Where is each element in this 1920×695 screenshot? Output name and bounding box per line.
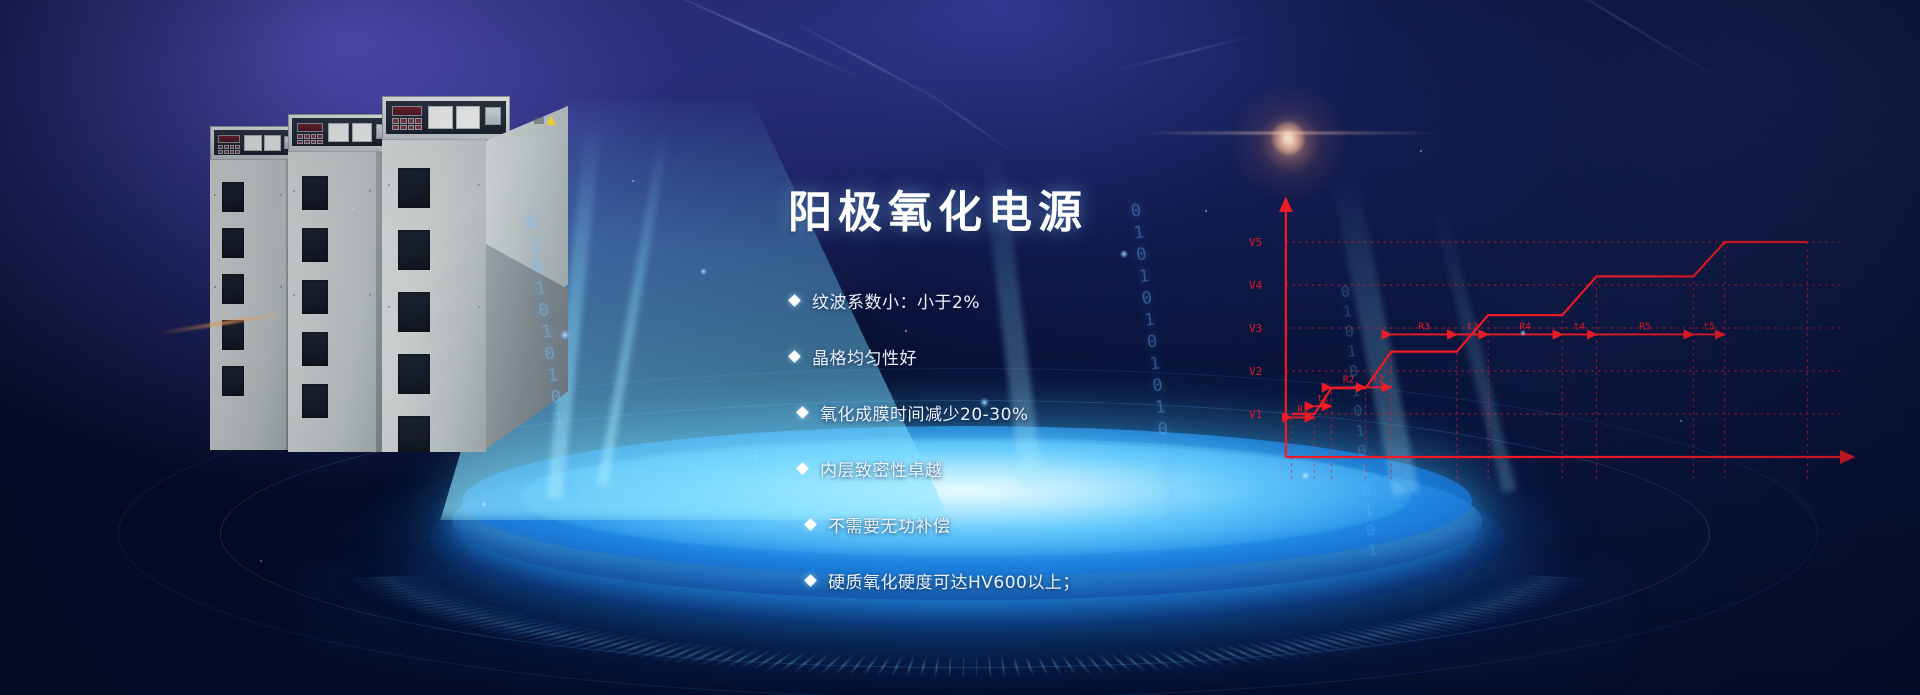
feature-label: 内层致密性卓越 (820, 456, 943, 481)
svg-text:t2: t2 (1373, 374, 1384, 385)
svg-text:t5: t5 (1703, 321, 1714, 332)
feature-label: 纹波系数小：小于2% (812, 288, 980, 313)
feature-item: 氧化成膜时间减少20-30% (798, 400, 1310, 424)
voltage-profile-chart: V1V2V3V4V5R1t1R2t2R3t3R4t4R5t5 (1245, 185, 1865, 485)
feature-label: 硬质氧化硬度可达HV600以上； (828, 568, 1080, 593)
feature-item: 硬质氧化硬度可达HV600以上； (806, 568, 1310, 592)
chart-svg: V1V2V3V4V5R1t1R2t2R3t3R4t4R5t5 (1245, 185, 1865, 485)
feature-label: 晶格均匀性好 (812, 344, 917, 369)
diamond-bullet-icon (804, 574, 817, 587)
feature-item: 内层致密性卓越 (798, 456, 1310, 480)
light-streak (1112, 34, 1258, 72)
svg-text:V2: V2 (1249, 365, 1262, 378)
svg-text:t4: t4 (1574, 321, 1586, 332)
feature-label: 氧化成膜时间减少20-30% (820, 400, 1029, 425)
feature-item: 纹波系数小：小于2% (790, 288, 1310, 312)
light-streak (1508, 0, 1732, 86)
page-title: 阳极氧化电源 (788, 176, 1088, 240)
svg-text:R2: R2 (1343, 374, 1354, 385)
svg-text:R3: R3 (1418, 321, 1429, 332)
hazard-badge (534, 116, 556, 128)
diamond-bullet-icon (796, 406, 809, 419)
diamond-bullet-icon (788, 294, 801, 307)
svg-text:R1: R1 (1297, 404, 1309, 415)
hero-banner: 0101010101010 010101010101010 0101010101… (0, 0, 1920, 695)
light-streak (915, 84, 1014, 154)
svg-text:V3: V3 (1249, 322, 1262, 335)
feature-item: 不需要无功补偿 (806, 512, 1310, 536)
svg-text:R5: R5 (1639, 321, 1650, 332)
lens-flare-core (1272, 122, 1304, 154)
svg-text:t3: t3 (1467, 321, 1478, 332)
diamond-bullet-icon (796, 462, 809, 475)
diamond-bullet-icon (788, 350, 801, 363)
svg-text:V1: V1 (1249, 408, 1262, 421)
svg-text:V5: V5 (1249, 236, 1262, 249)
svg-text:V4: V4 (1249, 279, 1263, 292)
feature-item: 晶格均匀性好 (790, 344, 1310, 368)
svg-text:t1: t1 (1317, 393, 1329, 404)
diamond-bullet-icon (804, 518, 817, 531)
feature-list: 纹波系数小：小于2% 晶格均匀性好 氧化成膜时间减少20-30% 内层致密性卓越… (790, 288, 1310, 624)
feature-label: 不需要无功补偿 (828, 512, 951, 537)
